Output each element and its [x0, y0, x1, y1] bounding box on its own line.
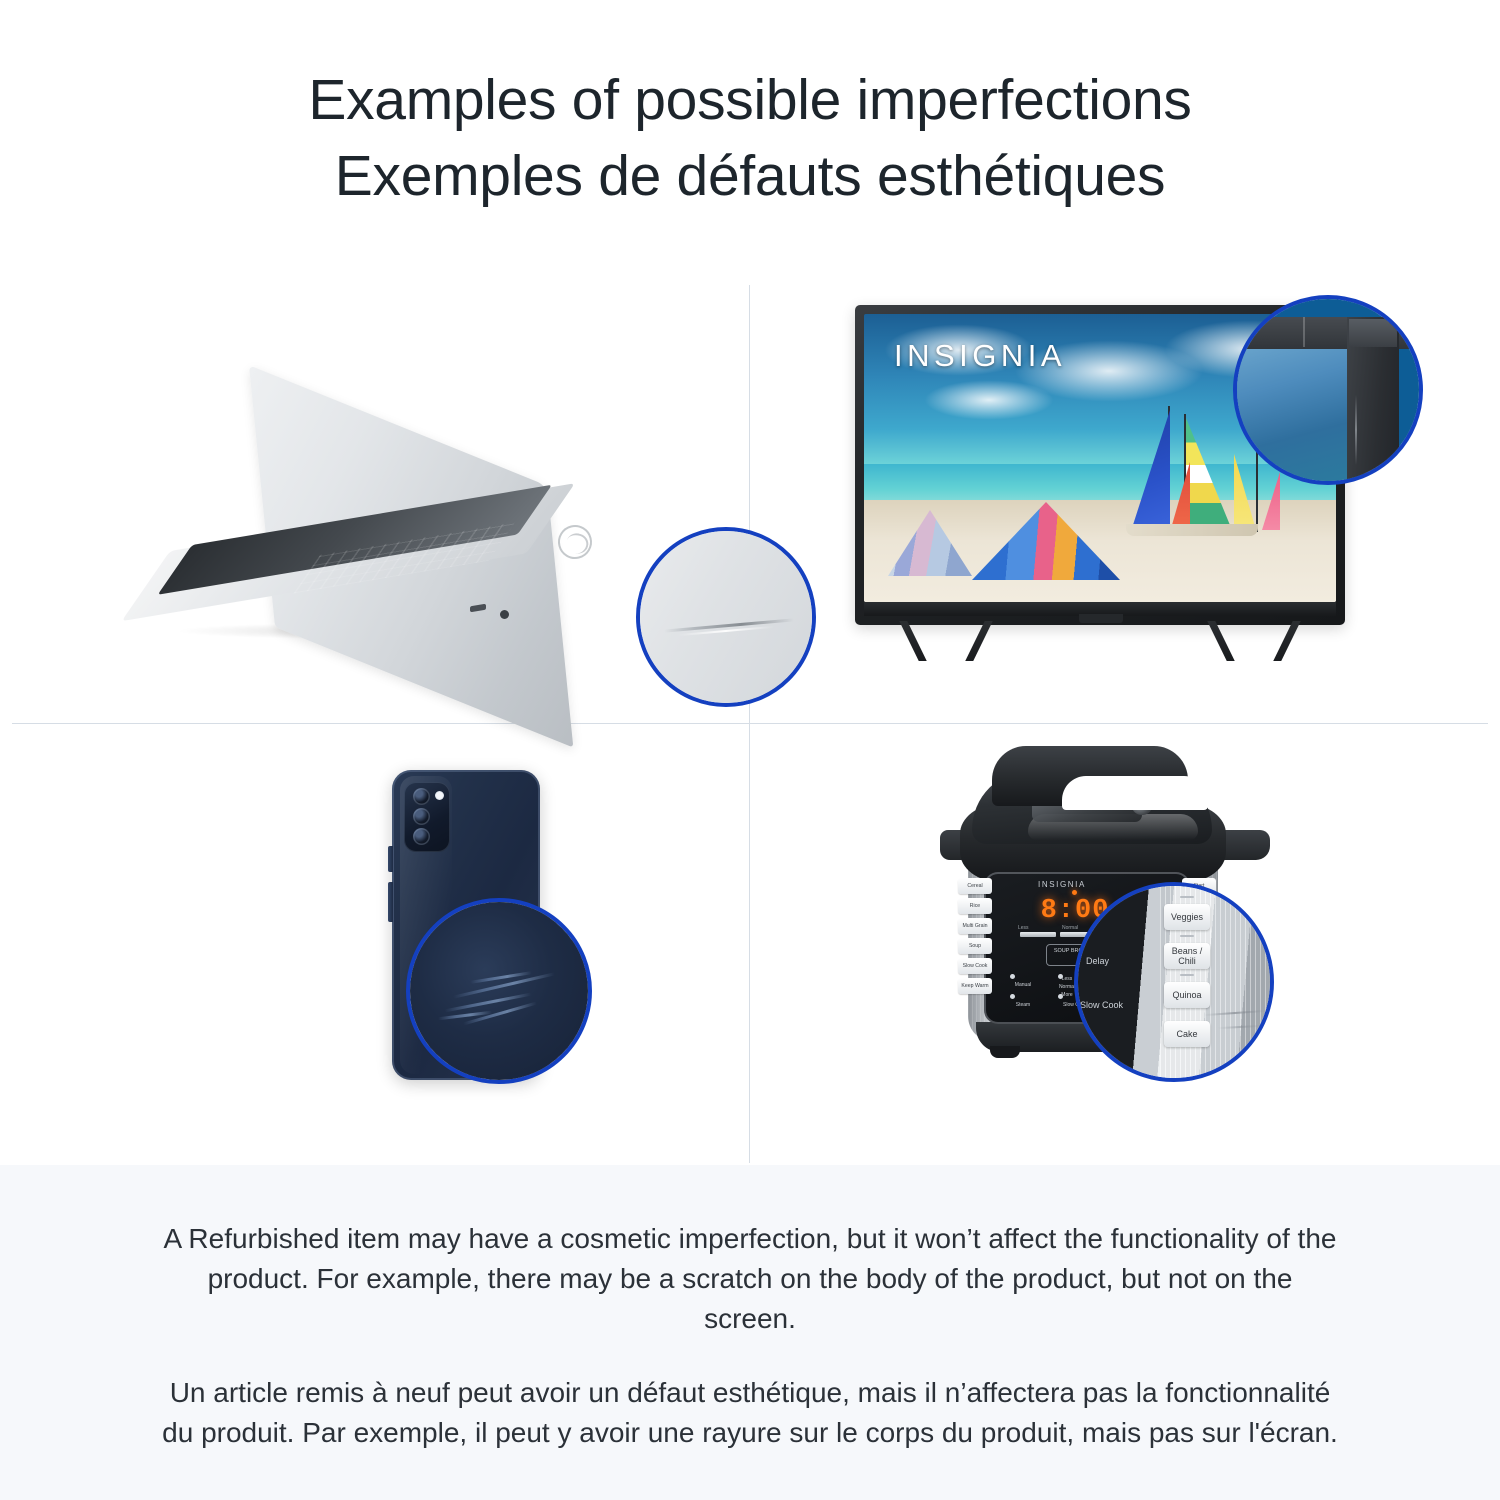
cooker-magnified-button-veggies[interactable]: Veggies: [1164, 904, 1210, 930]
phone-volume-button: [388, 882, 393, 922]
cooker-handle-opening: [1062, 776, 1208, 810]
cooker-illustration: INSIGNIA 8:00 Less Normal More SOUP BROT…: [946, 734, 1286, 1084]
tv-foot-right: [1211, 621, 1297, 661]
phone-illustration: [352, 770, 592, 1100]
level-segment: [1020, 932, 1056, 937]
boat-hull: [1126, 524, 1258, 536]
cooker-button-multi-grain[interactable]: Multi Grain: [958, 918, 992, 934]
cooker-magnified-label-slow-cook: Slow Cook: [1080, 1000, 1123, 1010]
tv-illustration: INSIGNIA: [855, 305, 1355, 675]
example-television: INSIGNIA: [750, 283, 1500, 723]
cooker-button-cereal[interactable]: Cereal: [958, 878, 992, 894]
tv-brand-logo: INSIGNIA: [894, 338, 1066, 374]
tv-scratch-mark: [1355, 395, 1357, 465]
cooker-magnified-buttons: Veggies Beans / Chili Quinoa Cake: [1164, 904, 1210, 1047]
example-smartphone: [0, 724, 749, 1165]
footer-description: A Refurbished item may have a cosmetic i…: [0, 1165, 1500, 1500]
camera-flash-icon: [435, 791, 444, 800]
example-pressure-cooker: INSIGNIA 8:00 Less Normal More SOUP BROT…: [750, 724, 1500, 1165]
camera-lens-icon: [413, 808, 430, 825]
cooker-button-rice[interactable]: Rice: [958, 898, 992, 914]
page-title: Examples of possible imperfections Exemp…: [0, 62, 1500, 214]
cooker-lid-handle: [992, 746, 1188, 806]
title-line-en: Examples of possible imperfections: [0, 62, 1500, 138]
mini-indicator: [1010, 974, 1015, 979]
cooker-magnified-button-beans-chili[interactable]: Beans / Chili: [1164, 943, 1210, 969]
phone-magnified-surface: [410, 902, 588, 1080]
cooker-foot-left: [990, 1046, 1020, 1058]
laptop-headphone-port-icon: [500, 610, 509, 619]
cooker-button-manual[interactable]: Manual: [1006, 982, 1040, 988]
bar-label-less: Less: [1018, 925, 1029, 931]
tv-magnified-corner-highlight: [1349, 319, 1397, 347]
refurbished-imperfections-infographic: Examples of possible imperfections Exemp…: [0, 0, 1500, 1500]
cooker-button-keep-warm[interactable]: Keep Warm: [958, 978, 992, 994]
cooker-magnified-button-cake[interactable]: Cake: [1164, 1021, 1210, 1047]
examples-grid: INSIGNIA: [0, 283, 1500, 1165]
cooker-button-steam[interactable]: Steam: [1006, 1002, 1040, 1008]
tv-magnified-seam: [1303, 317, 1305, 347]
laptop-logo-icon: [554, 521, 595, 562]
bar-label-normal: Normal: [1062, 925, 1078, 931]
tv-magnifier-circle: [1233, 295, 1423, 485]
tv-magnified-screen-area: [1233, 343, 1361, 485]
example-laptop: [0, 283, 749, 723]
cooker-status-indicator: [1072, 890, 1077, 895]
cooker-magnified-label-delay: Delay: [1086, 956, 1109, 966]
tv-foot-left: [903, 621, 989, 661]
cooker-magnified-button-quinoa[interactable]: Quinoa: [1164, 982, 1210, 1008]
cloud-shape: [924, 380, 1054, 420]
phone-power-button: [388, 846, 393, 872]
laptop-illustration: [170, 373, 640, 663]
cooker-button-soup[interactable]: Soup: [958, 938, 992, 954]
title-line-fr: Exemples de défauts esthétiques: [0, 138, 1500, 214]
tv-center-nub: [1079, 614, 1123, 623]
footer-paragraph-en: A Refurbished item may have a cosmetic i…: [160, 1219, 1340, 1339]
cooker-left-button-column: Cereal Rice Multi Grain Soup Slow Cook K…: [958, 878, 992, 994]
footer-paragraph-fr: Un article remis à neuf peut avoir un dé…: [160, 1373, 1340, 1453]
divider-dash: [1180, 896, 1194, 898]
camera-lens-icon: [413, 788, 430, 805]
mini-indicator: [1010, 994, 1015, 999]
camera-lens-icon: [413, 828, 430, 845]
phone-magnifier-circle: [406, 898, 592, 1084]
phone-camera-module: [404, 782, 450, 852]
cooker-button-slow-cook-2[interactable]: Slow Cook: [958, 958, 992, 974]
cooker-magnifier-circle: Delay Slow Cook Veggies Beans / Chili Qu…: [1074, 882, 1274, 1082]
